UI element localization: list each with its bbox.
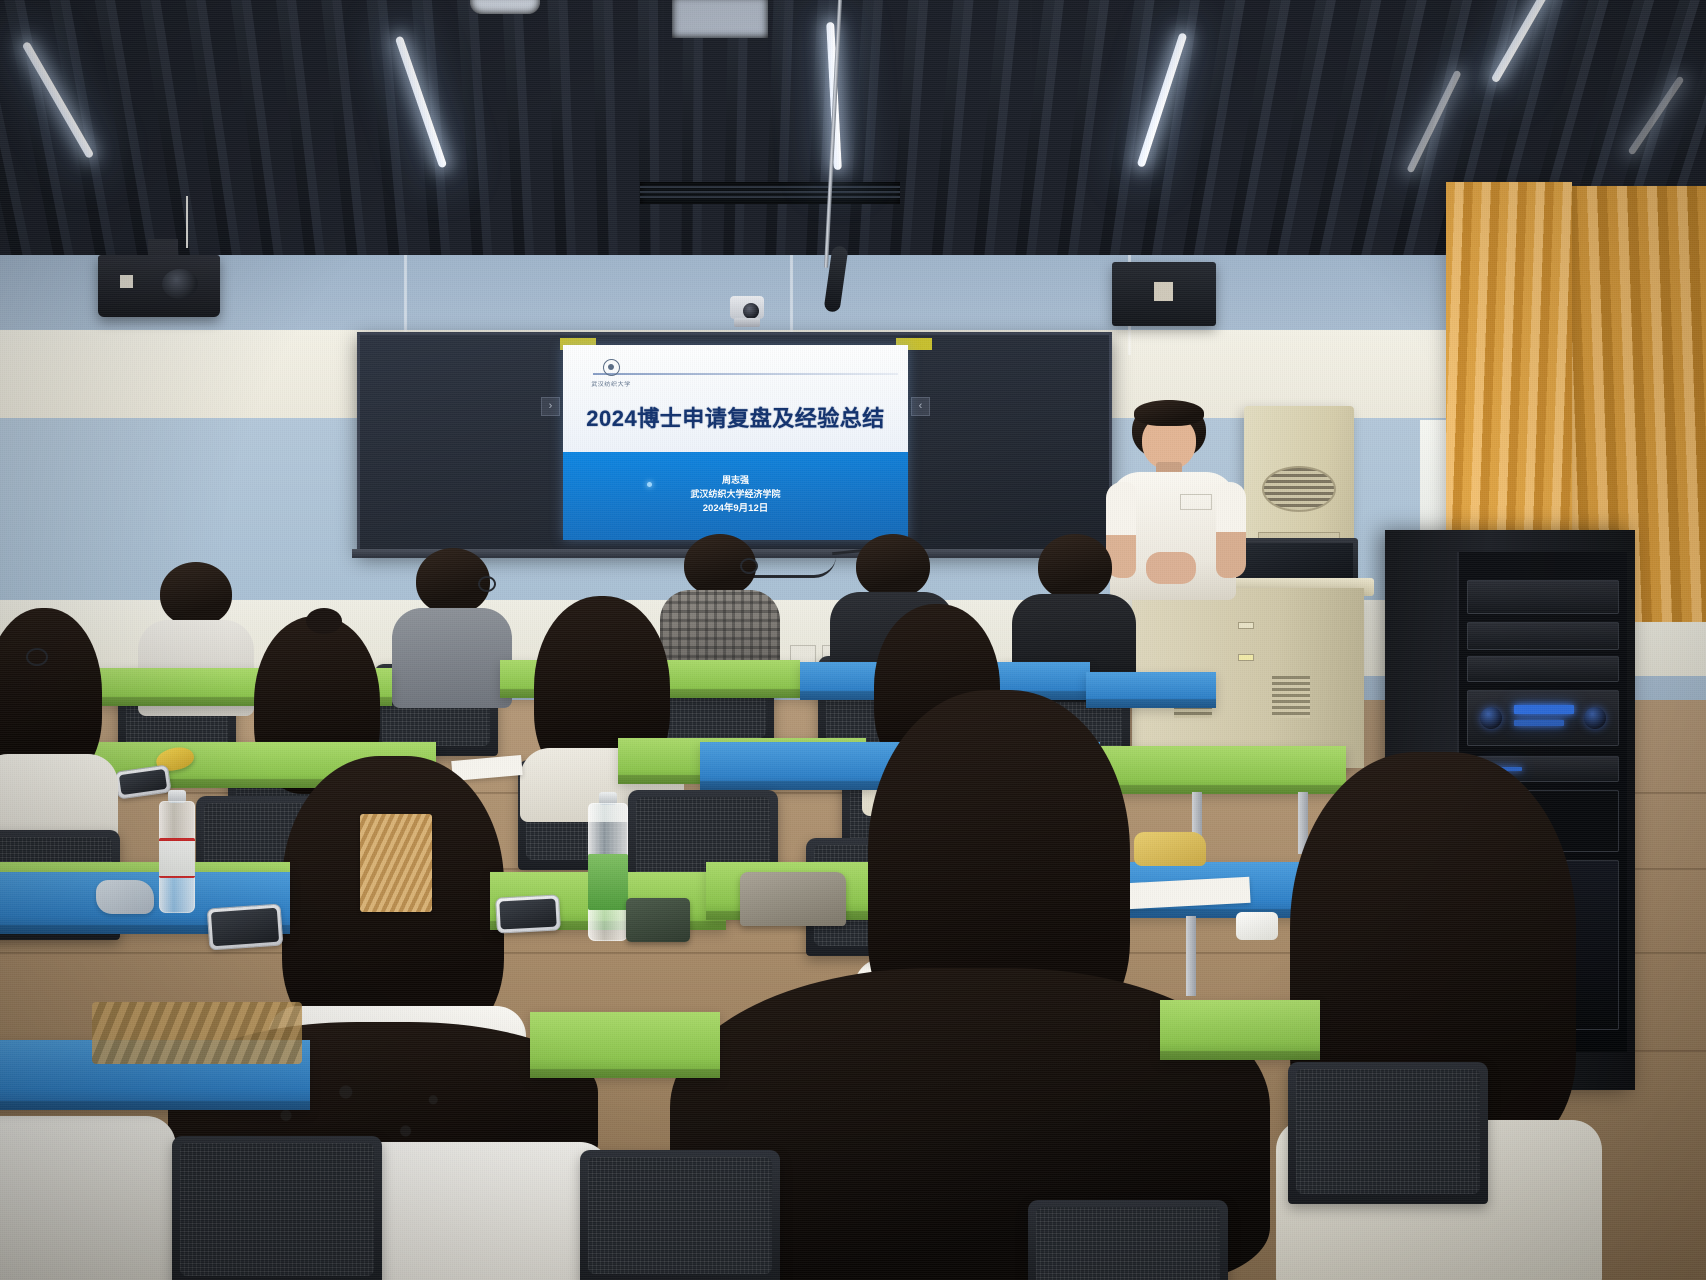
slide-title: 2024博士申请复盘及经验总结: [563, 401, 908, 433]
presenter-pocket: [1180, 494, 1212, 510]
projector-cable: [186, 196, 188, 248]
water-bottle-left[interactable]: [150, 790, 204, 914]
smartphone-2[interactable]: [207, 903, 284, 950]
slide-divider: [593, 373, 898, 375]
pencil-case[interactable]: [626, 898, 690, 942]
bottle-label: [588, 854, 628, 910]
wall-speaker-right: [1112, 262, 1216, 326]
camera-body: [730, 296, 764, 319]
ceiling-cable-1: [662, 0, 664, 96]
rack-knob-left[interactable]: [1480, 707, 1502, 729]
lectern-latch-2[interactable]: [1238, 654, 1254, 661]
eyeglasses: [740, 558, 758, 574]
bottle-label: [159, 838, 195, 878]
hair-bun: [306, 608, 342, 634]
presenter-fringe: [1134, 400, 1204, 426]
projector-indicator: [120, 275, 133, 288]
slide-upper-panel: 武汉纺织大学 2024博士申请复盘及经验总结: [563, 345, 908, 452]
ptz-camera: [726, 293, 768, 329]
student-hair: [160, 562, 232, 626]
chair-r4-far[interactable]: [1028, 1200, 1228, 1280]
logo-wordmark: 武汉纺织大学: [591, 379, 631, 387]
student-row3-far-left: [0, 608, 120, 848]
slide-date: 2024年9月12日: [563, 502, 908, 517]
presenter-right-arm: [1216, 482, 1246, 578]
slide-affiliation: 武汉纺织大学经济学院: [563, 488, 908, 502]
speaker-cone: [1154, 282, 1173, 301]
rack-unit-amplifier[interactable]: [1467, 580, 1619, 614]
student-hair: [1038, 534, 1112, 600]
student-top: [392, 608, 512, 708]
presentation-slide: 武汉纺织大学 2024博士申请复盘及经验总结 周志强 武汉纺织大学经济学院 20…: [563, 345, 908, 540]
rack-display-2: [1514, 720, 1564, 726]
student-hair: [856, 534, 930, 598]
ceiling-vent: [640, 182, 900, 204]
desk-row4-right: [1160, 1000, 1320, 1060]
camera-base: [734, 318, 760, 327]
eyeglasses: [26, 648, 48, 666]
eyeglasses: [478, 576, 496, 592]
rack-unit-processor[interactable]: [1467, 656, 1619, 682]
tissue: [1236, 912, 1278, 940]
slide-presenter-name: 周志强: [563, 474, 908, 488]
camera-lens: [743, 303, 759, 319]
ceiling-projector: [98, 255, 220, 317]
ac-fan-grill: [1262, 466, 1336, 512]
rack-display: [1514, 705, 1574, 714]
rack-unit-mixer[interactable]: [1467, 622, 1619, 650]
hair-claw-clip: [360, 814, 432, 912]
tote-bag[interactable]: [740, 872, 846, 926]
desk-row4-mid: [530, 1012, 720, 1078]
rack-unit-receiver[interactable]: [1467, 690, 1619, 746]
chair-r4-mid[interactable]: [580, 1150, 780, 1280]
ceiling-diffuser: [470, 0, 540, 14]
crumpled-wrapper: [96, 880, 154, 914]
chair-r4-right[interactable]: [1288, 1062, 1488, 1204]
student-top: [0, 1116, 176, 1280]
floor-mat: [92, 1002, 302, 1064]
lectern-latch[interactable]: [1238, 622, 1254, 629]
smartphone-3[interactable]: [495, 894, 561, 933]
student-row1-glasses: [392, 548, 512, 698]
ceiling-panel: [672, 0, 768, 38]
slide-lower-panel: 周志强 武汉纺织大学经济学院 2024年9月12日: [563, 452, 908, 540]
logo-ring-icon: [603, 359, 620, 376]
slide-metadata: 周志强 武汉纺织大学经济学院 2024年9月12日: [563, 474, 908, 517]
classroom-photo: › ‹ 武汉纺织大学 2024博士申请复盘及经验总结 周志强 武汉纺织大学经济学…: [0, 0, 1706, 1280]
university-logo: 武汉纺织大学: [585, 353, 637, 393]
interactive-whiteboard[interactable]: › ‹ 武汉纺织大学 2024博士申请复盘及经验总结 周志强 武汉纺织大学经济学…: [357, 332, 1112, 554]
projector-lens: [162, 269, 198, 299]
lectern-vent-right: [1272, 676, 1310, 718]
presenter-hands: [1146, 552, 1196, 584]
rack-knob-right[interactable]: [1584, 707, 1606, 729]
chair-r4-left[interactable]: [172, 1136, 382, 1280]
board-prev-button[interactable]: ›: [541, 397, 560, 416]
ceiling-cable-2: [1030, 0, 1032, 78]
board-next-button[interactable]: ‹: [911, 397, 930, 416]
